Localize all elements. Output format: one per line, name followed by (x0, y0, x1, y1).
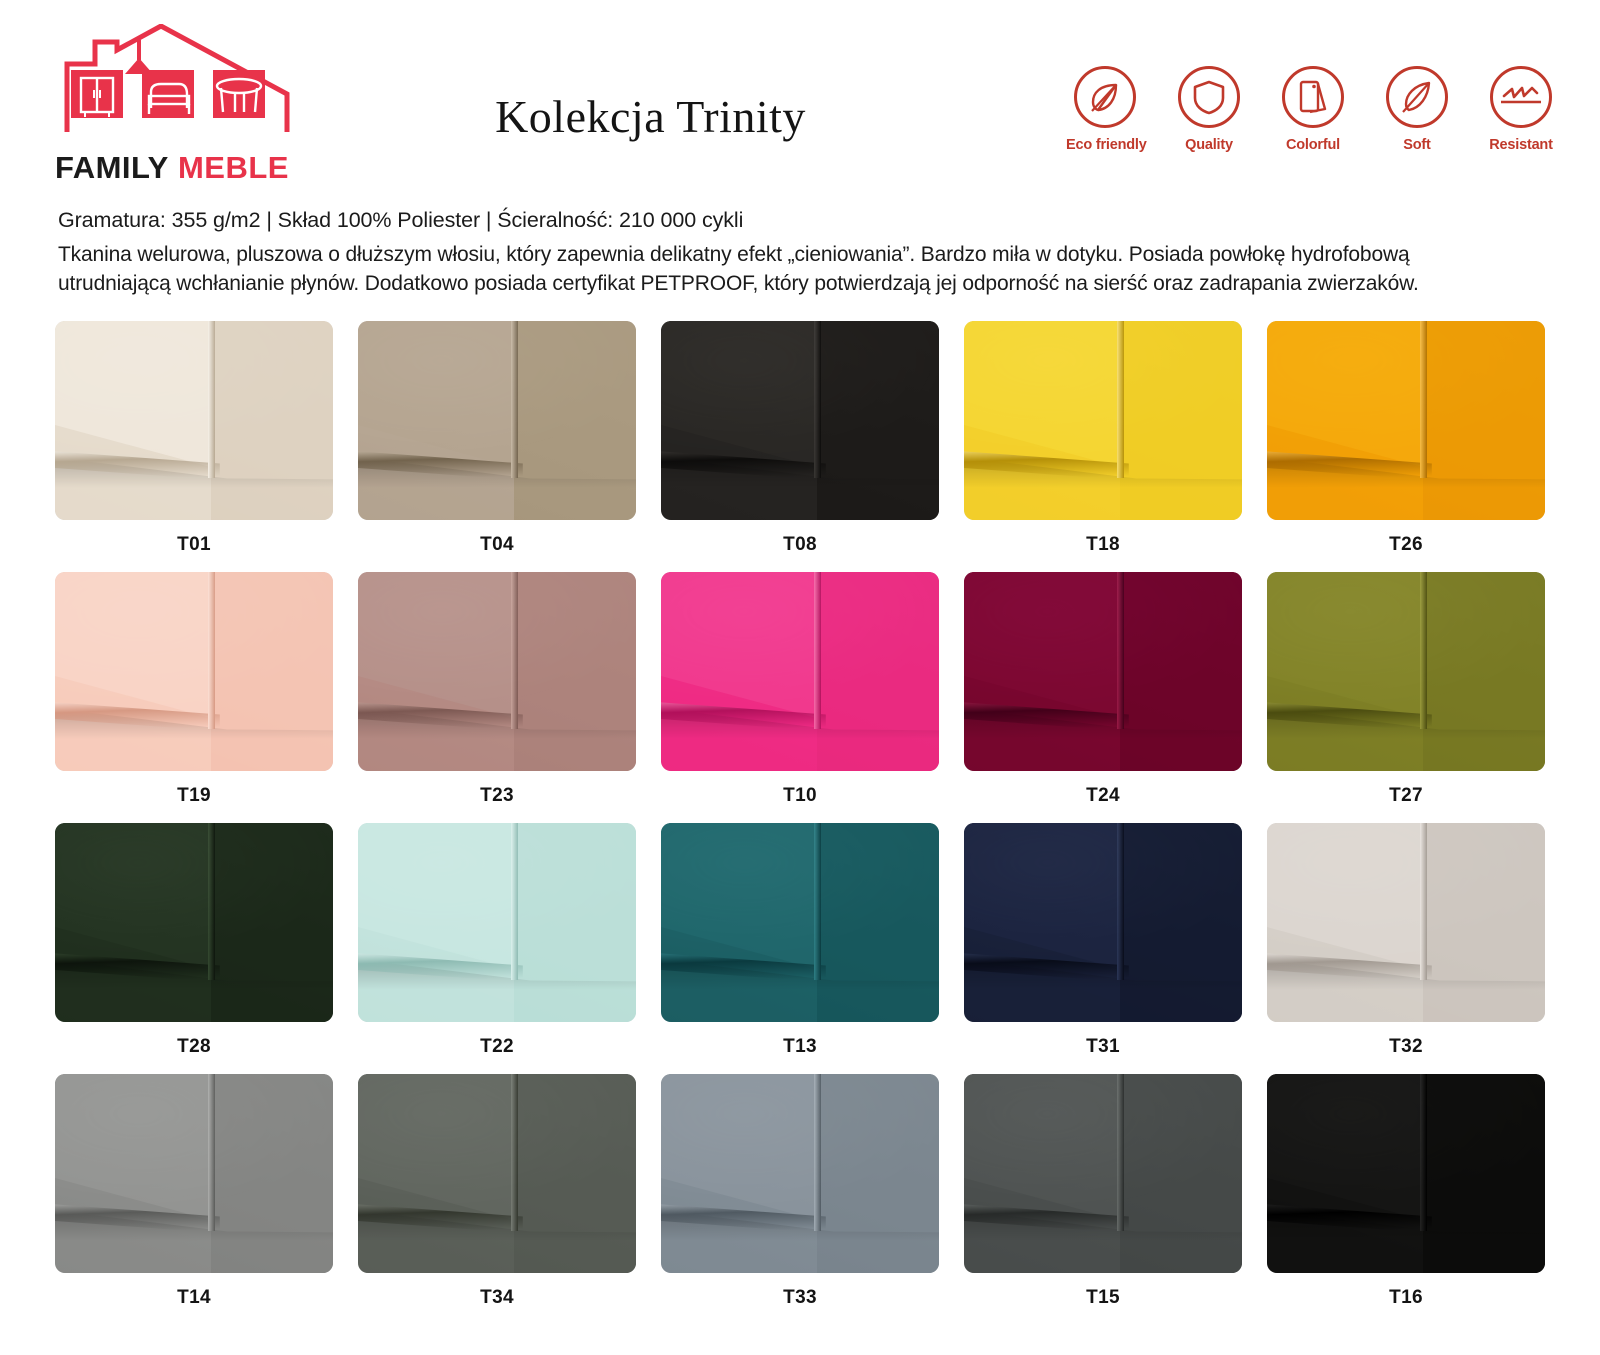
fabric-swatch[interactable] (964, 572, 1242, 771)
badge-circle (1074, 66, 1136, 128)
swatch-code-label: T24 (964, 771, 1242, 823)
swatch-code-label: T16 (1267, 1273, 1545, 1325)
swatch-code-label: T14 (55, 1273, 333, 1325)
fabric-sheen (1267, 572, 1545, 771)
swatch-cell[interactable]: T16 (1267, 1074, 1545, 1325)
title-block: Kolekcja Trinity (355, 18, 1066, 143)
swatch-cell[interactable]: T26 (1267, 321, 1545, 572)
fabric-sheen (964, 823, 1242, 1022)
badge-label: Eco friendly (1066, 137, 1144, 153)
fabric-swatch[interactable] (661, 823, 939, 1022)
swatch-code-label: T19 (55, 771, 333, 823)
leaf-icon (1086, 78, 1124, 116)
fabric-sheen (55, 321, 333, 520)
fabric-swatch[interactable] (1267, 572, 1545, 771)
swatch-cell[interactable]: T15 (964, 1074, 1242, 1325)
fabric-sheen (661, 823, 939, 1022)
fabric-swatch[interactable] (661, 321, 939, 520)
badge-circle (1386, 66, 1448, 128)
badge-label: Quality (1170, 137, 1248, 153)
swatch-cell[interactable]: T24 (964, 572, 1242, 823)
fabric-sheen (661, 1074, 939, 1273)
fabric-swatch[interactable] (1267, 1074, 1545, 1273)
feather-icon (1398, 78, 1436, 116)
fabric-sheen (661, 572, 939, 771)
fabric-swatch[interactable] (358, 572, 636, 771)
fabric-sheen (358, 321, 636, 520)
fabric-sheen (358, 572, 636, 771)
swatch-cell[interactable]: T22 (358, 823, 636, 1074)
swatch-code-label: T22 (358, 1022, 636, 1074)
fabric-sheen (358, 1074, 636, 1273)
fabric-sheen (1267, 321, 1545, 520)
fabric-sheen (55, 1074, 333, 1273)
page-header: FAMILY MEBLE Kolekcja Trinity Eco friend… (0, 0, 1600, 200)
badge-circle (1490, 66, 1552, 128)
fabric-description: Tkanina welurowa, pluszowa o dłuższym wł… (58, 241, 1458, 299)
swatch-code-label: T34 (358, 1273, 636, 1325)
swatch-grid: T01T04T08T18T26T19T23T10T24T27T28T22T13T… (0, 299, 1600, 1325)
badge-circle (1282, 66, 1344, 128)
fabric-swatch[interactable] (55, 321, 333, 520)
fabric-swatch[interactable] (964, 823, 1242, 1022)
swatch-code-label: T32 (1267, 1022, 1545, 1074)
swatch-cell[interactable]: T10 (661, 572, 939, 823)
fabric-sheen (964, 1074, 1242, 1273)
fabric-swatch[interactable] (55, 572, 333, 771)
badge-quality: Quality (1170, 66, 1248, 153)
fabric-swatch[interactable] (358, 321, 636, 520)
brand-name-second: MEBLE (178, 150, 289, 185)
fabric-sheen (1267, 823, 1545, 1022)
badge-eco-friendly: Eco friendly (1066, 66, 1144, 153)
fabric-sheen (964, 321, 1242, 520)
badge-label: Resistant (1482, 137, 1560, 153)
house-furniture-logo-icon (55, 24, 355, 144)
swatch-cell[interactable]: T34 (358, 1074, 636, 1325)
fabric-sheen (1267, 1074, 1545, 1273)
swatch-cell[interactable]: T04 (358, 321, 636, 572)
swatch-cell[interactable]: T28 (55, 823, 333, 1074)
swatch-code-label: T31 (964, 1022, 1242, 1074)
fabric-sheen (55, 823, 333, 1022)
swatch-code-label: T04 (358, 520, 636, 572)
swatch-cell[interactable]: T31 (964, 823, 1242, 1074)
fabric-sheen (964, 572, 1242, 771)
badge-resistant: Resistant (1482, 66, 1560, 153)
fabric-swatch[interactable] (661, 1074, 939, 1273)
fabric-swatch[interactable] (964, 321, 1242, 520)
swatch-code-label: T08 (661, 520, 939, 572)
swatch-cell[interactable]: T14 (55, 1074, 333, 1325)
brand-name-first: FAMILY (55, 150, 169, 185)
badge-label: Soft (1378, 137, 1456, 153)
swatch-icon (1296, 78, 1330, 116)
fabric-swatch[interactable] (55, 1074, 333, 1273)
swatch-code-label: T15 (964, 1273, 1242, 1325)
swatch-code-label: T18 (964, 520, 1242, 572)
brand-wordmark: FAMILY MEBLE (55, 150, 355, 186)
fabric-swatch[interactable] (358, 823, 636, 1022)
badge-soft: Soft (1378, 66, 1456, 153)
swatch-cell[interactable]: T18 (964, 321, 1242, 572)
fabric-swatch[interactable] (964, 1074, 1242, 1273)
fabric-swatch[interactable] (55, 823, 333, 1022)
fabric-sheen (358, 823, 636, 1022)
badge-label: Colorful (1274, 137, 1352, 153)
swatch-cell[interactable]: T08 (661, 321, 939, 572)
swatch-code-label: T01 (55, 520, 333, 572)
fabric-sheen (55, 572, 333, 771)
swatch-code-label: T13 (661, 1022, 939, 1074)
brand-logo[interactable]: FAMILY MEBLE (55, 18, 355, 186)
badge-colorful: Colorful (1274, 66, 1352, 153)
swatch-cell[interactable]: T32 (1267, 823, 1545, 1074)
fabric-swatch[interactable] (1267, 823, 1545, 1022)
swatch-code-label: T33 (661, 1273, 939, 1325)
description-block: Gramatura: 355 g/m2 | Skład 100% Poliest… (0, 200, 1600, 299)
fabric-sheen (661, 321, 939, 520)
fabric-specs: Gramatura: 355 g/m2 | Skład 100% Poliest… (58, 208, 1525, 233)
swatch-code-label: T27 (1267, 771, 1545, 823)
swatch-cell[interactable]: T19 (55, 572, 333, 823)
swatch-cell[interactable]: T23 (358, 572, 636, 823)
scratch-icon (1499, 80, 1543, 114)
fabric-swatch[interactable] (661, 572, 939, 771)
shield-icon (1192, 78, 1226, 116)
swatch-code-label: T10 (661, 771, 939, 823)
swatch-cell[interactable]: T33 (661, 1074, 939, 1325)
fabric-swatch[interactable] (358, 1074, 636, 1273)
swatch-code-label: T28 (55, 1022, 333, 1074)
badge-circle (1178, 66, 1240, 128)
swatch-cell[interactable]: T01 (55, 321, 333, 572)
swatch-cell[interactable]: T27 (1267, 572, 1545, 823)
feature-badges: Eco friendly Quality (1066, 18, 1560, 153)
fabric-swatch[interactable] (1267, 321, 1545, 520)
page-title: Kolekcja Trinity (355, 90, 946, 143)
swatch-code-label: T23 (358, 771, 636, 823)
swatch-cell[interactable]: T13 (661, 823, 939, 1074)
swatch-code-label: T26 (1267, 520, 1545, 572)
